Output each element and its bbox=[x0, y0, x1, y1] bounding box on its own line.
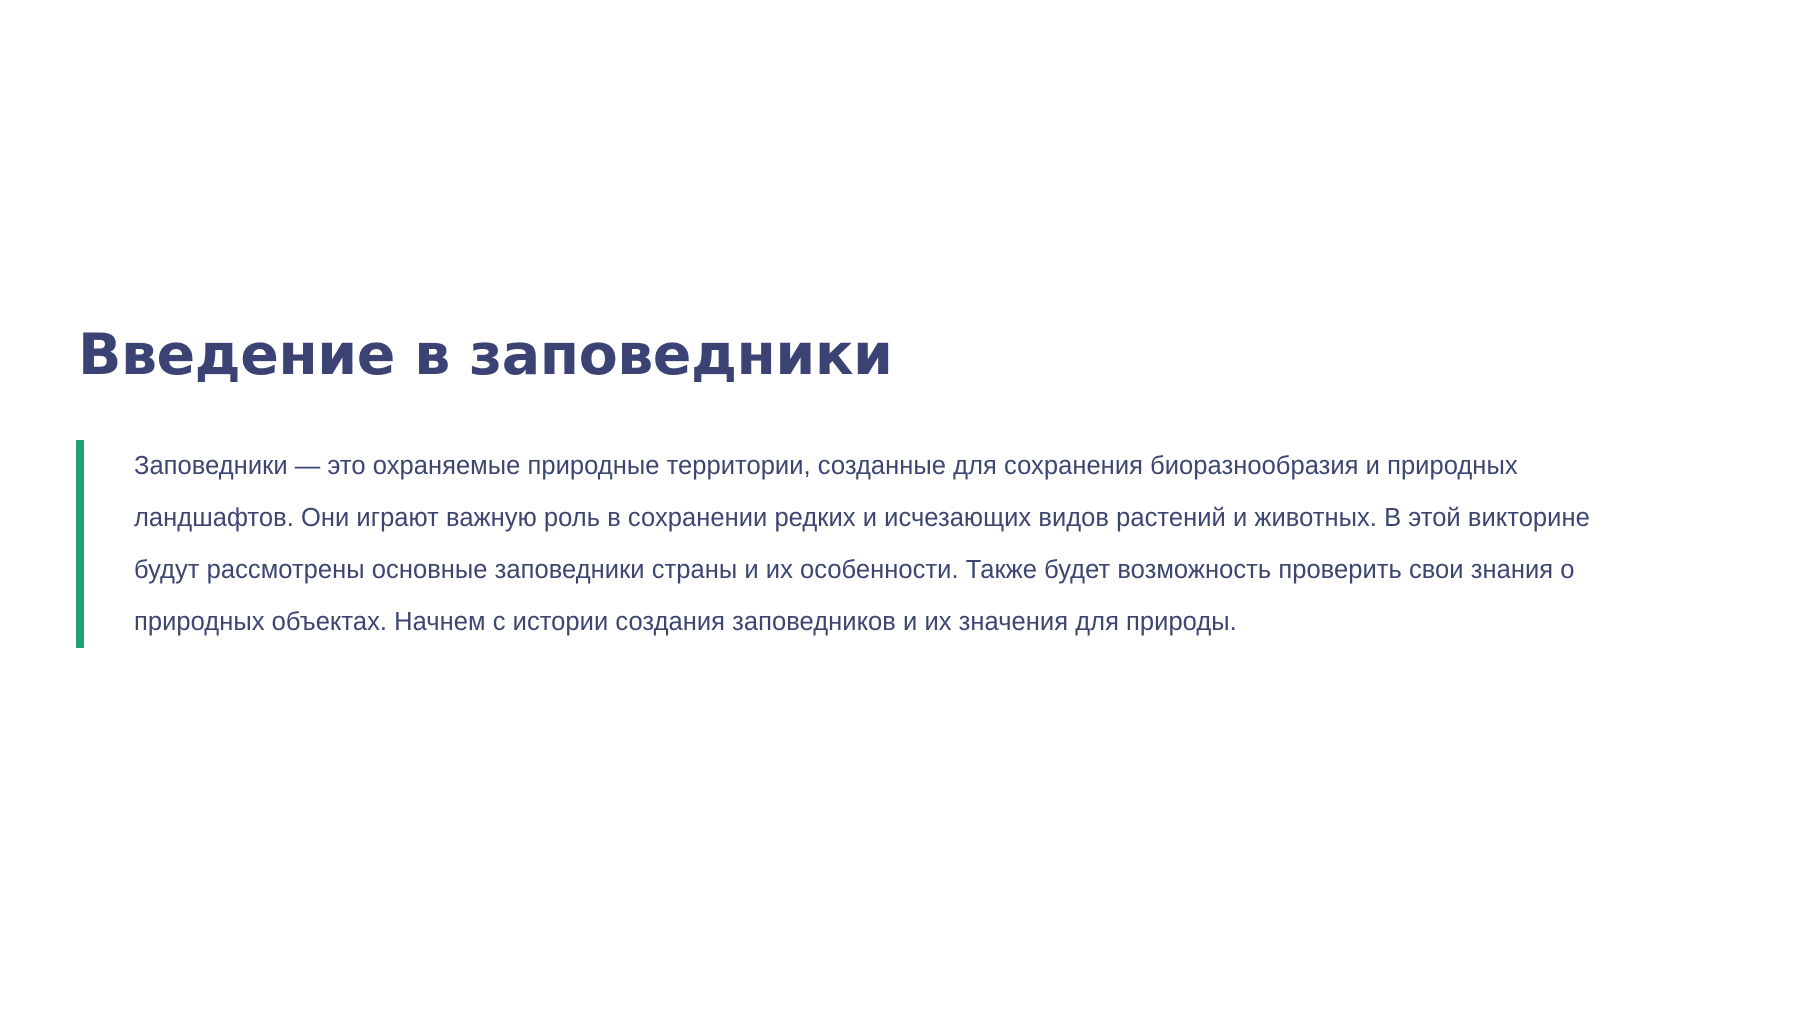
body-text-container: Заповедники — это охраняемые природные т… bbox=[84, 440, 1636, 648]
body-block: Заповедники — это охраняемые природные т… bbox=[76, 440, 1636, 648]
page-title: Введение в заповедники bbox=[78, 322, 1718, 389]
accent-bar bbox=[76, 440, 84, 648]
body-paragraph: Заповедники — это охраняемые природные т… bbox=[134, 440, 1636, 648]
slide-canvas: Введение в заповедники Заповедники — это… bbox=[0, 0, 1800, 1013]
title-block: Введение в заповедники bbox=[78, 322, 1718, 389]
